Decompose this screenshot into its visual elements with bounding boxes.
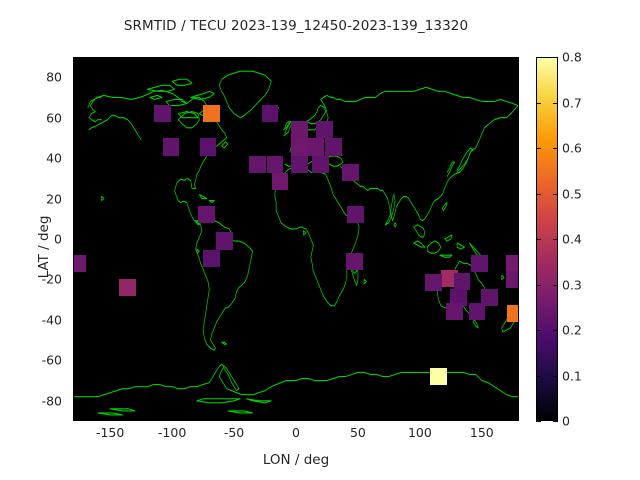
heatmap-cell-layer [73, 57, 519, 421]
colorbar-tick-label: 0.6 [562, 141, 582, 156]
colorbar-tick-label: 0.1 [562, 368, 582, 383]
colorbar-tick-mark [553, 194, 558, 195]
heatmap-cell [291, 138, 308, 155]
y-axis-tick-label: -20 [0, 272, 62, 287]
heatmap-cell [198, 206, 215, 223]
y-axis-tick-label: 60 [0, 110, 62, 125]
y-axis-tick-mark [73, 360, 78, 361]
x-axis-tick-mark [420, 416, 421, 421]
x-axis-tick-mark [482, 416, 483, 421]
heatmap-cell [163, 138, 180, 155]
colorbar-tick-label: 0.5 [562, 186, 582, 201]
colorbar-tick-mark [553, 148, 558, 149]
heatmap-cell [312, 156, 329, 173]
x-axis-tick-label: 100 [385, 425, 455, 440]
heatmap-cell [200, 138, 217, 155]
colorbar-tick-mark [553, 421, 558, 422]
y-axis-tick-label: 20 [0, 191, 62, 206]
heatmap-cell [325, 138, 342, 155]
heatmap-cell [203, 250, 220, 267]
y-axis-tick-mark [73, 77, 78, 78]
heatmap-cell [262, 105, 279, 122]
colorbar-tick-mark [553, 285, 558, 286]
heatmap-cell [342, 164, 359, 181]
page-title: SRMTID / TECU 2023-139_12450-2023-139_13… [0, 18, 592, 34]
y-axis-tick-label: 0 [0, 232, 62, 247]
heatmap-cell [291, 156, 308, 173]
heatmap-cell [471, 255, 488, 272]
y-axis-tick-label: -40 [0, 312, 62, 327]
heatmap-cell [506, 255, 519, 272]
colorbar-tick-mark [553, 239, 558, 240]
y-axis-tick-label: 80 [0, 70, 62, 85]
colorbar-tick-mark [536, 103, 541, 104]
colorbar-tick-label: 0 [562, 414, 570, 429]
heatmap-cell [291, 121, 308, 138]
heatmap-cell [73, 255, 86, 272]
heatmap-cell [307, 138, 324, 155]
x-axis-tick-label: -100 [137, 425, 207, 440]
colorbar-tick-label: 0.3 [562, 277, 582, 292]
colorbar-tick-mark [536, 194, 541, 195]
x-axis-tick-label: 150 [447, 425, 517, 440]
y-axis-tick-mark [73, 199, 78, 200]
colorbar-tick-label: 0.7 [562, 95, 582, 110]
x-axis-tick-label: -50 [199, 425, 269, 440]
y-axis-tick-mark [73, 239, 78, 240]
heatmap-cell [267, 156, 284, 173]
heatmap-cell [425, 274, 442, 291]
heatmap-cell [154, 105, 171, 122]
y-axis-tick-label: -80 [0, 393, 62, 408]
heatmap-cell [119, 279, 136, 296]
map-axes [73, 57, 519, 421]
heatmap-cell [446, 303, 463, 320]
heatmap-cell [469, 303, 486, 320]
x-axis-tick-mark [172, 416, 173, 421]
heatmap-cell [216, 232, 233, 249]
colorbar-tick-mark [536, 148, 541, 149]
heatmap-cell [506, 271, 519, 288]
colorbar-tick-mark [536, 376, 541, 377]
colorbar-tick-mark [536, 57, 541, 58]
colorbar-tick-label: 0.8 [562, 50, 582, 65]
x-axis-tick-mark [234, 416, 235, 421]
heatmap-cell [316, 121, 333, 138]
y-axis-tick-label: -60 [0, 353, 62, 368]
colorbar-tick-mark [536, 285, 541, 286]
x-axis-tick-label: -150 [75, 425, 145, 440]
y-axis-tick-mark [73, 279, 78, 280]
colorbar-tick-mark [553, 376, 558, 377]
y-axis-tick-mark [73, 320, 78, 321]
colorbar-tick-mark [536, 421, 541, 422]
x-axis-tick-mark [296, 416, 297, 421]
heatmap-cell [454, 273, 471, 290]
x-axis-tick-label: 50 [323, 425, 393, 440]
colorbar-tick-mark [553, 57, 558, 58]
colorbar-tick-mark [536, 239, 541, 240]
plot-root: SRMTID / TECU 2023-139_12450-2023-139_13… [0, 0, 640, 480]
x-axis-tick-label: 0 [261, 425, 331, 440]
heatmap-cell [249, 156, 266, 173]
y-axis-tick-mark [73, 118, 78, 119]
heatmap-cell [203, 105, 220, 122]
x-axis-tick-mark [358, 416, 359, 421]
heatmap-cell [272, 173, 289, 190]
y-axis-tick-mark [73, 158, 78, 159]
heatmap-cell [507, 305, 519, 322]
colorbar-tick-label: 0.2 [562, 323, 582, 338]
heatmap-cell [430, 368, 447, 385]
y-axis-tick-label: 40 [0, 151, 62, 166]
colorbar-tick-mark [553, 330, 558, 331]
x-axis-label: LON / deg [73, 452, 519, 468]
heatmap-cell [346, 253, 363, 270]
y-axis-tick-mark [73, 401, 78, 402]
heatmap-cell [347, 206, 364, 223]
colorbar-tick-mark [553, 103, 558, 104]
colorbar-tick-mark [536, 330, 541, 331]
x-axis-tick-mark [110, 416, 111, 421]
colorbar-tick-label: 0.4 [562, 232, 582, 247]
